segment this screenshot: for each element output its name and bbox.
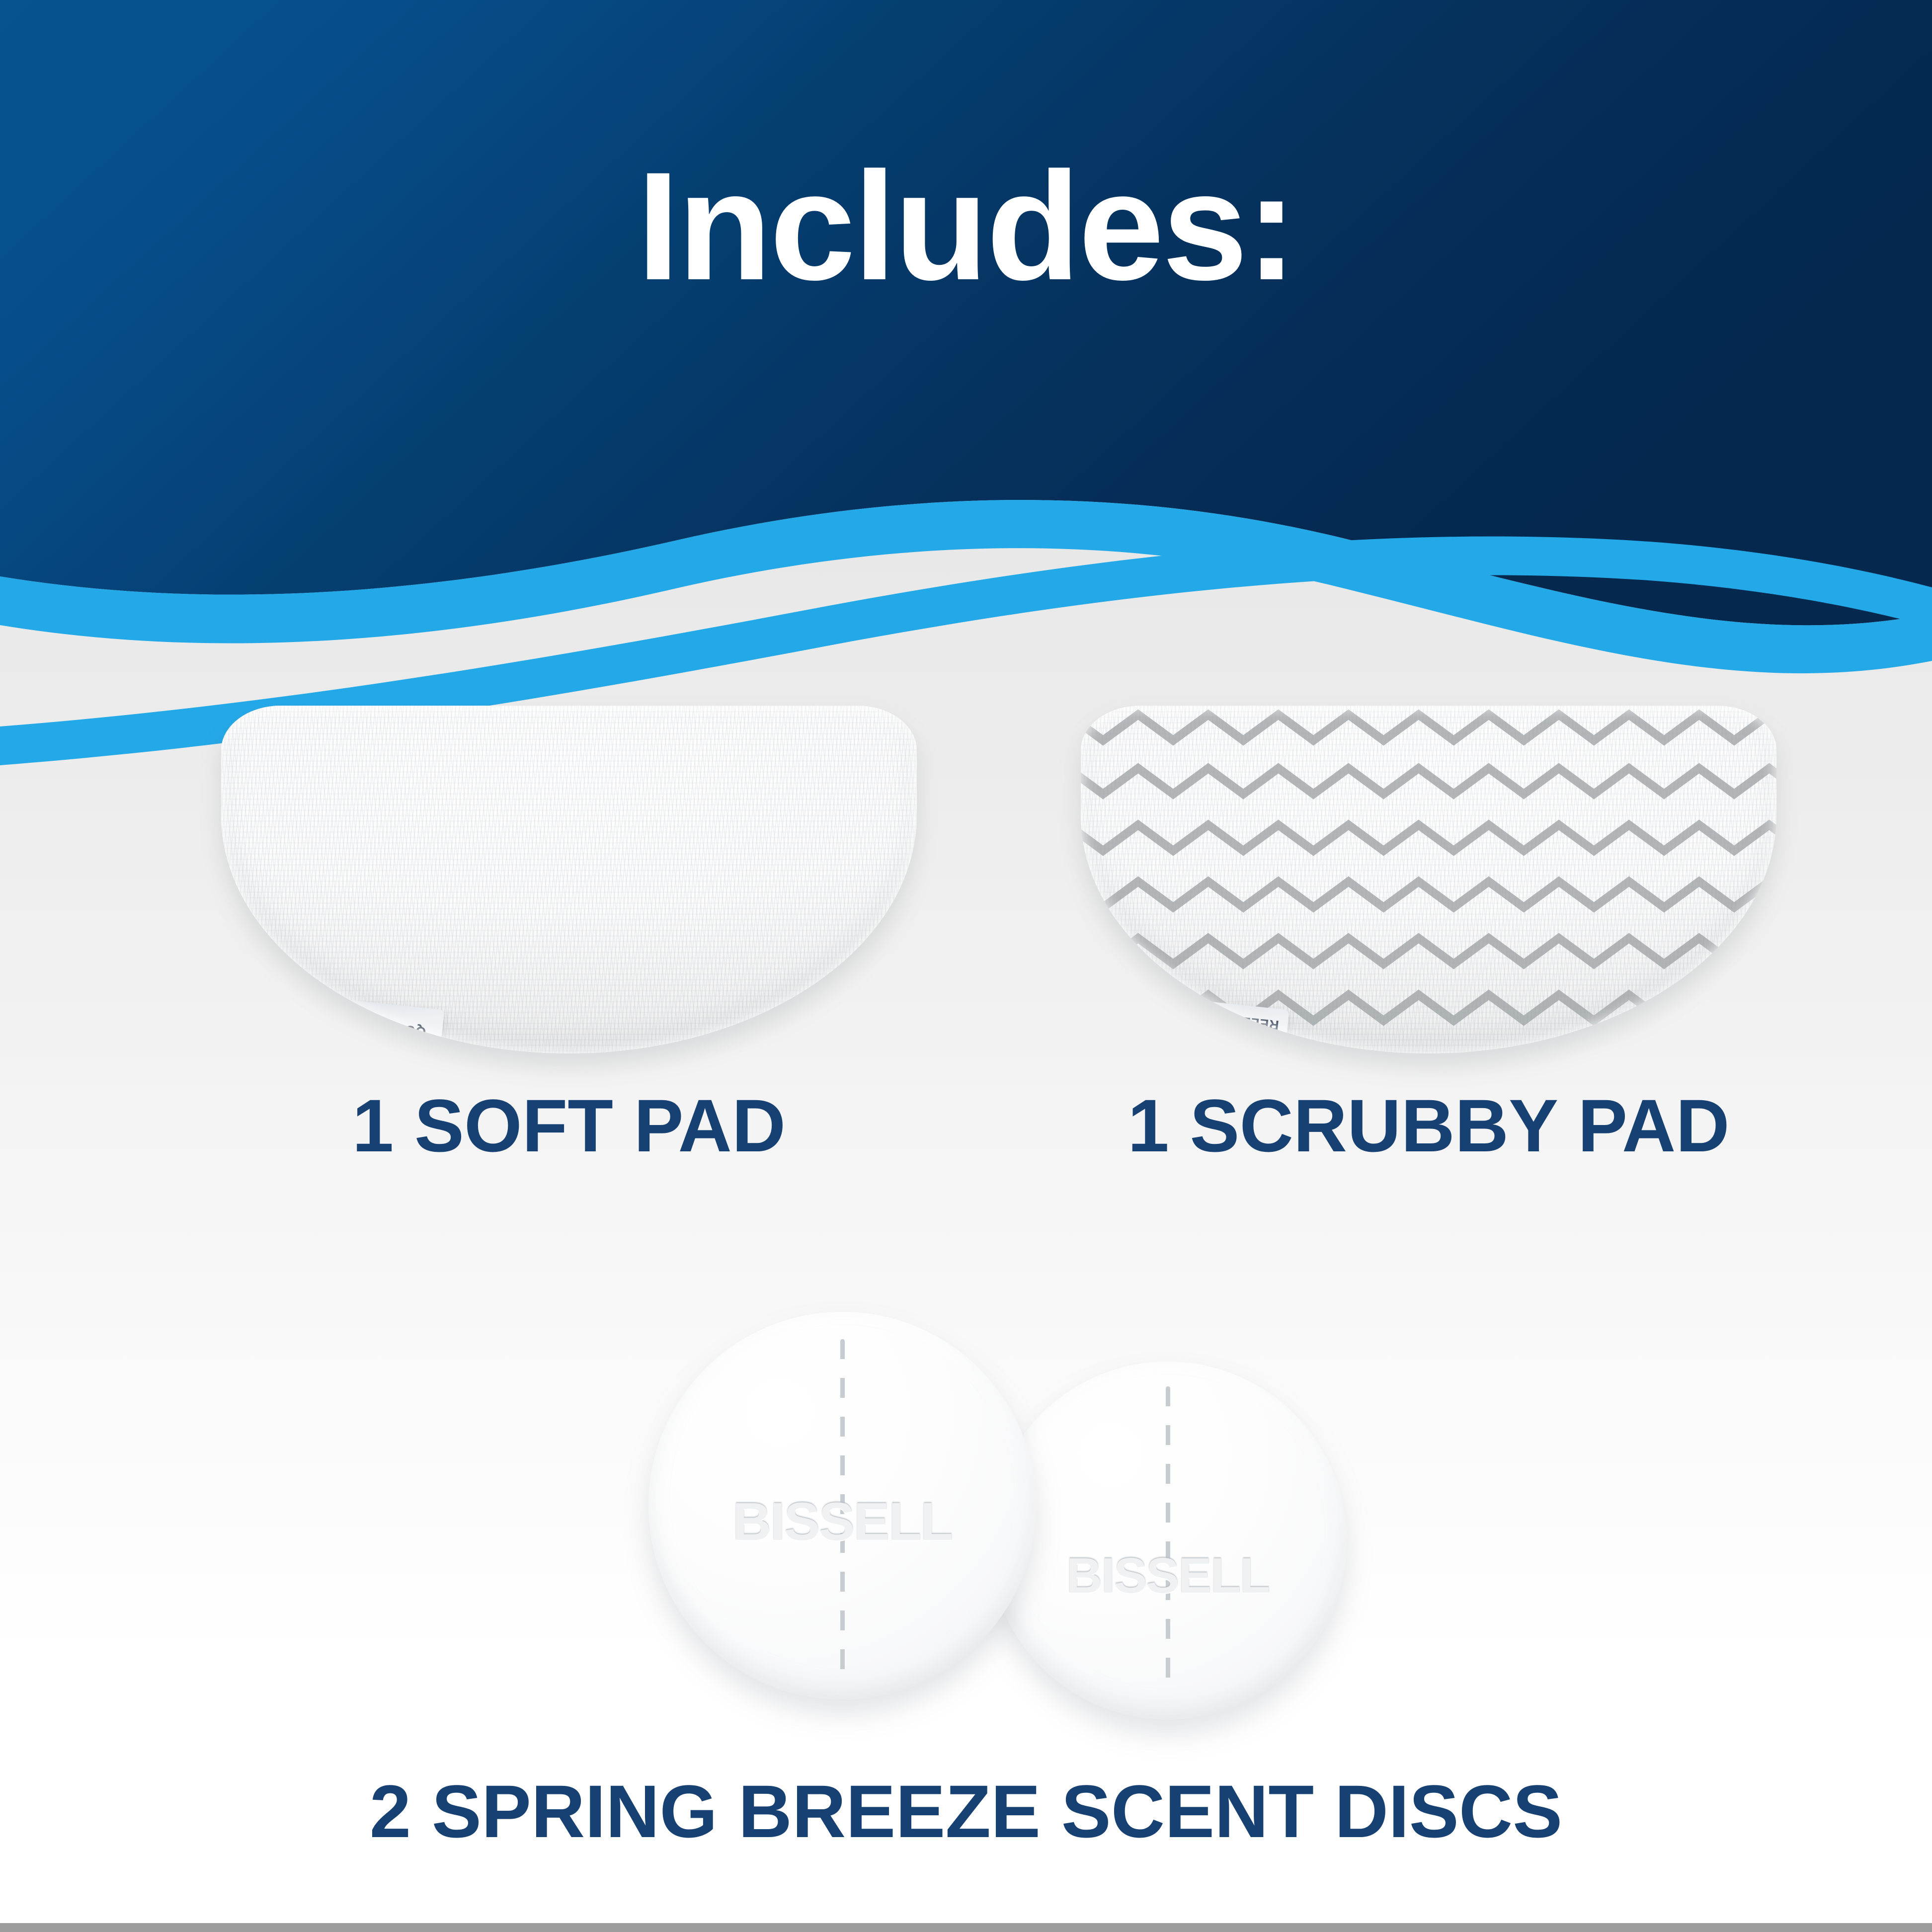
- soft-mop-pad-image: QUICK GRIP: [221, 706, 917, 1053]
- scent-discs-group: BISSELL BISSELL: [0, 1272, 1932, 1769]
- infographic-canvas: Includes: QUICK GRIP 1 SOFT PAD: [0, 0, 1932, 1932]
- scent-discs-caption: 2 SPRING BREEZE SCENT DISCS: [0, 1774, 1932, 1849]
- bissell-logo-back: BISSELL: [989, 1547, 1347, 1605]
- bissell-logo-front: BISSELL: [648, 1490, 1036, 1552]
- page-title: Includes:: [0, 149, 1932, 303]
- quick-grip-release-tab: QUICK GRIP RELEASE TAB: [1168, 998, 1289, 1053]
- scent-disc-front: BISSELL: [648, 1312, 1036, 1699]
- quick-grip-tab-label: QUICK GRIP: [341, 1016, 427, 1040]
- disc-score-line-back: [1166, 1386, 1170, 1694]
- pads-row: QUICK GRIP 1 SOFT PAD: [0, 706, 1932, 1153]
- quick-grip-tab: QUICK GRIP: [323, 998, 445, 1053]
- soft-pad-item: QUICK GRIP 1 SOFT PAD: [209, 706, 929, 1053]
- quick-grip-release-tab-label: QUICK GRIP RELEASE TAB: [1178, 1007, 1280, 1048]
- footer-bar: [0, 1923, 1932, 1932]
- scent-disc-back: BISSELL: [989, 1362, 1347, 1719]
- scrubby-pad-item: QUICK GRIP RELEASE TAB 1 SCRUBBY PAD: [1068, 706, 1789, 1053]
- soft-pad-caption: 1 SOFT PAD: [209, 1088, 929, 1163]
- scrubby-pad-caption: 1 SCRUBBY PAD: [1068, 1088, 1789, 1163]
- scrubby-mop-pad-image: QUICK GRIP RELEASE TAB: [1081, 706, 1776, 1053]
